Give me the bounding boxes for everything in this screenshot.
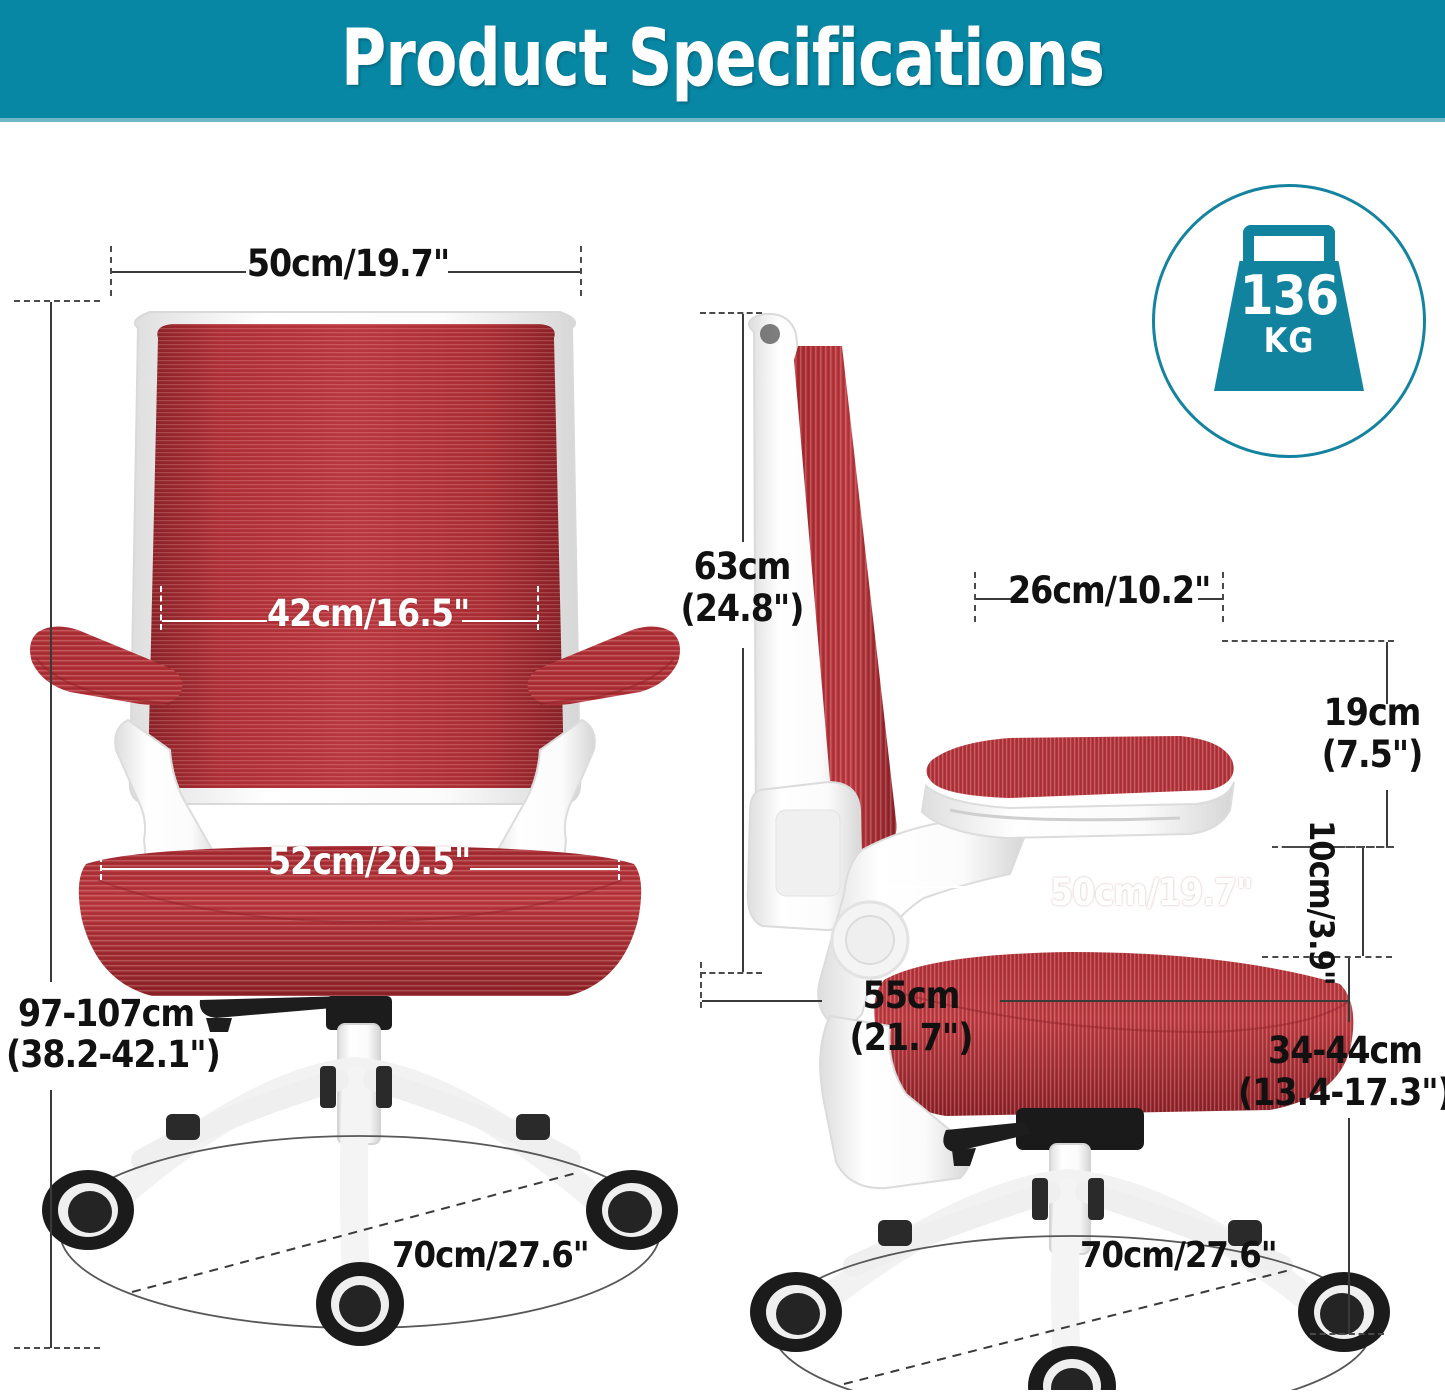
dimension-line-armrest-depth-left: [976, 598, 1012, 600]
dimension-line-seat-width-right: [470, 868, 618, 870]
dimension-line-backrest-width-right: [448, 271, 580, 273]
dimension-tick-seat-depth-left: [884, 852, 886, 890]
label-seat-depth-back-inches: (21.7"): [822, 1019, 1000, 1057]
page-title: Product Specifications: [341, 14, 1104, 104]
dimension-line-seat-thickness: [1362, 848, 1364, 956]
dimension-tick-backrest-right: [580, 246, 582, 296]
label-backrest-outer-width: 50cm/19.7": [246, 245, 450, 283]
label-overall-height-inches: (38.2-42.1"): [6, 1036, 220, 1074]
label-backrest-height-inches: (24.8"): [666, 590, 818, 628]
dimension-tick-backrest-inner-right: [537, 586, 539, 630]
label-seat-height-inches: (13.4-17.3"): [1238, 1074, 1444, 1112]
dimension-line-depth-right: [1000, 1000, 1348, 1002]
dimension-line-backrest-inner-right: [462, 620, 538, 622]
dimension-line-overall-height-lower: [50, 1090, 52, 1348]
dimension-extension-bottom-height: [14, 1347, 100, 1349]
label-armrest-height-inches: (7.5"): [1306, 736, 1438, 774]
dimension-extension-armrest-top: [1222, 640, 1394, 642]
dimension-tick-armrest-depth-right: [1222, 572, 1224, 622]
label-armrest-height: 19cm: [1306, 694, 1438, 732]
dimension-line-armrest-height-lower: [1386, 790, 1388, 848]
dimension-line-backrest-height-lower: [742, 648, 744, 972]
dimension-line-seat-height-lower: [1348, 1118, 1350, 1334]
side-view-chair: [710, 290, 1400, 1390]
dimension-tick-seat-right: [618, 838, 620, 880]
dimension-extension-top-height: [14, 300, 100, 302]
dimension-tick-backrest-inner-left: [160, 586, 162, 630]
dimension-line-backrest-width: [112, 271, 246, 273]
dimension-line-backrest-height-upper: [742, 314, 744, 542]
label-backrest-inner-width: 42cm/16.5": [267, 595, 463, 633]
label-backrest-height: 63cm: [672, 548, 812, 586]
label-seat-depth: 50cm/19.7": [1050, 874, 1252, 912]
label-front-base-diameter: 70cm/27.6": [392, 1237, 589, 1274]
label-armrest-depth: 26cm/10.2": [1008, 572, 1204, 610]
dimension-tick-seat-left: [100, 838, 102, 880]
label-overall-height: 97-107cm: [18, 995, 194, 1033]
dimension-line-seat-depth: [886, 886, 1044, 888]
label-side-base-diameter: 70cm/27.6": [1080, 1237, 1277, 1274]
weight-handle-icon: [1243, 225, 1335, 265]
header-divider: [0, 118, 1445, 122]
dimension-tick-armrest-depth-left: [974, 572, 976, 622]
dimension-extension-backrest-bottom: [700, 972, 762, 974]
dimension-line-backrest-inner-left: [162, 620, 267, 622]
dimension-line-seat-height-upper: [1348, 958, 1350, 1022]
label-seat-height: 34-44cm: [1246, 1032, 1444, 1070]
dimension-line-depth-left: [702, 1000, 822, 1002]
label-seat-width: 52cm/20.5": [268, 843, 470, 881]
dimension-line-seat-width-left: [102, 868, 268, 870]
label-seat-depth-back: 55cm: [822, 977, 1000, 1015]
dimension-line-overall-height-upper: [50, 302, 52, 982]
dimension-extension-seat-height-bottom: [1310, 1333, 1384, 1335]
dimension-extension-backrest-top: [700, 312, 762, 314]
front-view-chair: [20, 280, 700, 1390]
product-specifications-page: Product Specifications 136 KG: [0, 0, 1445, 1397]
label-seat-thickness: 10cm/3.9": [1303, 820, 1338, 1000]
page-header-banner: Product Specifications: [0, 0, 1445, 118]
